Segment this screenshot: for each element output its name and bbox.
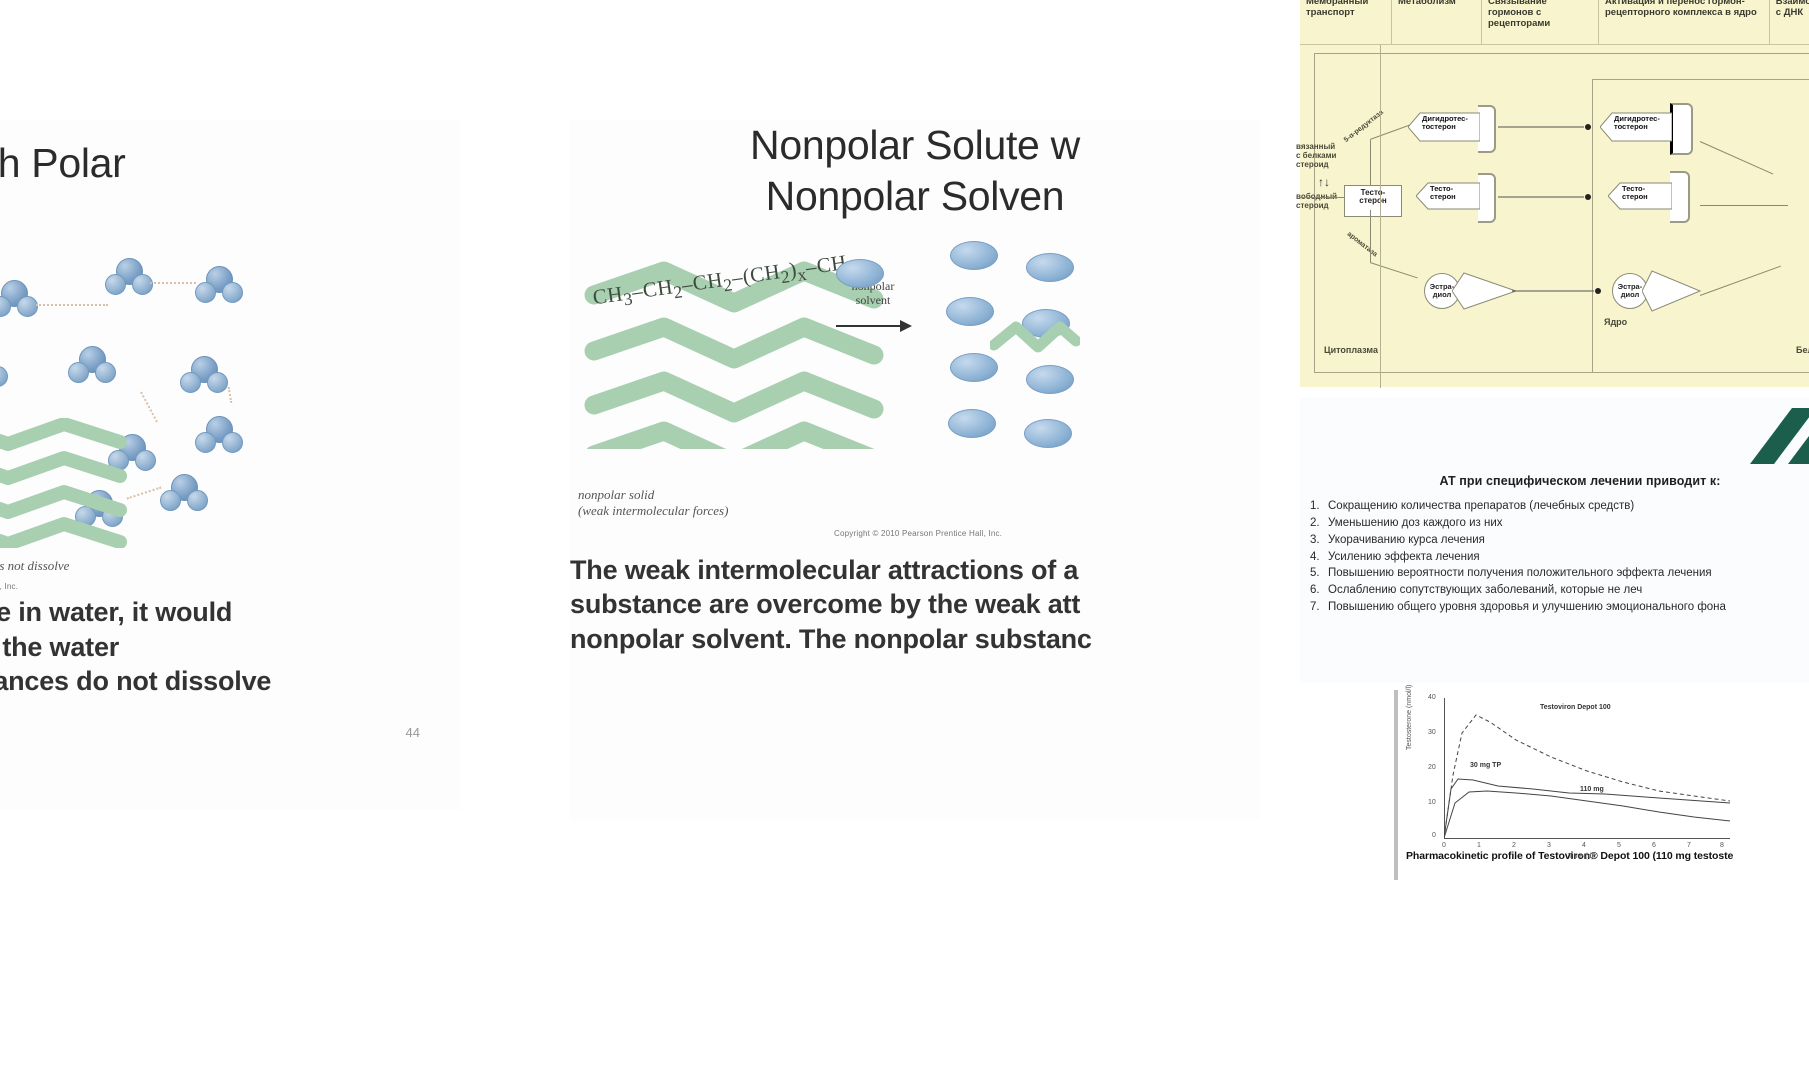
figure-caption-line2: (weak intermolecular forces) xyxy=(578,503,878,519)
right-arrow-icon xyxy=(836,319,912,333)
receptor-bracket xyxy=(1478,173,1496,223)
water-molecule xyxy=(0,280,36,320)
transfer-arrow-icon xyxy=(1512,285,1604,297)
water-molecule xyxy=(0,350,6,390)
diagram-column-header: Взаимодействие с ДНК xyxy=(1770,0,1809,44)
bound-steroid-label: вязанныйс белкамистероид xyxy=(1296,143,1336,169)
diagram-column-header: Метаболизм xyxy=(1392,0,1482,44)
solvent-molecule xyxy=(946,297,994,326)
slide-nonpolar-solute-nonpolar-solvent: Nonpolar Solute w Nonpolar Solven CH3–CH… xyxy=(570,120,1260,820)
copyright-notice: Copyright © 2010 Pearson Prentice Hall, … xyxy=(0,582,460,591)
page-title: Nonpolar Solute w Nonpolar Solven xyxy=(570,120,1260,223)
y-tick-label: 40 xyxy=(1428,694,1436,701)
region-label-protein: Белок xyxy=(1796,345,1809,355)
series-110mg xyxy=(1444,791,1730,838)
figure-caption-line1: nonpolar solid xyxy=(578,487,878,503)
x-tick-label: 3 xyxy=(1547,842,1551,849)
x-tick-label: 4 xyxy=(1582,842,1586,849)
slide-body-text: The weak intermolecular attractions of a… xyxy=(570,553,1260,657)
water-molecule xyxy=(195,416,241,456)
chart-caption: Pharmacokinetic profile of Testoviron® D… xyxy=(1406,850,1809,863)
y-tick-label: 0 xyxy=(1432,832,1436,839)
hormone-action-diagram: Мембранный транспорт Метаболизм Связыван… xyxy=(1300,0,1809,387)
x-tick-label: 0 xyxy=(1442,842,1446,849)
slide-nonpolar-solute-polar-solvent: olute with Polar olvent xyxy=(0,120,460,810)
screenshot-canvas: olute with Polar olvent xyxy=(0,0,1809,1080)
solvent-molecule xyxy=(948,409,996,438)
estradiol-receptor-triangle xyxy=(1642,269,1702,313)
transfer-arrow-icon xyxy=(1498,191,1592,203)
list-item: Уменьшению доз каждого из них xyxy=(1306,516,1809,532)
list-item: Укорачиванию курса лечения xyxy=(1306,533,1809,549)
body-line: substance are overcome by the weak att xyxy=(570,587,1260,622)
solvent-molecule xyxy=(950,241,998,270)
figure-does-not-dissolve: does not dissolve xyxy=(0,246,460,576)
page-title-line1: olute with Polar xyxy=(0,138,460,188)
diagram-column-header: Мембранный транспорт xyxy=(1300,0,1392,44)
diagram-column-header: Активация и перенос гормон-рецепторного … xyxy=(1599,0,1770,44)
x-tick-label: 1 xyxy=(1477,842,1481,849)
x-tick-label: 8 xyxy=(1720,842,1724,849)
y-tick-label: 20 xyxy=(1428,764,1436,771)
figure-caption: nonpolar solid (weak intermolecular forc… xyxy=(578,487,878,519)
footer-page-number: 44 xyxy=(406,725,420,740)
node-label-dht-2: Дигидротес-тостерон xyxy=(1614,115,1660,131)
green-swoosh-decoration xyxy=(1630,398,1809,468)
y-axis-title: Testosterone (nmol/l) xyxy=(1406,685,1413,750)
body-line: polar substances do not dissolve xyxy=(0,664,460,699)
slide-footer: Chapter 2 44 xyxy=(0,725,460,740)
list-item: Повышению вероятности получения положите… xyxy=(1306,566,1809,582)
water-molecule xyxy=(195,266,241,306)
list-item: Сокращению количества препаратов (лечебн… xyxy=(1306,499,1809,515)
diagram-body: вязанныйс белкамистероид вободныйстероид… xyxy=(1300,45,1809,388)
body-line: The weak intermolecular attractions of a xyxy=(570,553,1260,588)
solvent-molecule xyxy=(836,259,884,288)
list-item: Усилению эффекта лечения xyxy=(1306,550,1809,566)
list-item: Повышению общего уровня здоровья и улучш… xyxy=(1306,600,1809,616)
y-tick-label: 30 xyxy=(1428,729,1436,736)
diagram-column-header: Связывание гормонов с рецепторами xyxy=(1482,0,1599,44)
diagram-column-headers: Мембранный транспорт Метаболизм Связыван… xyxy=(1300,0,1809,45)
solvent-molecule xyxy=(1024,419,1072,448)
figure-caption: does not dissolve xyxy=(0,558,140,574)
activated-receptor-bracket xyxy=(1670,103,1693,155)
page-title: olute with Polar olvent xyxy=(0,120,460,238)
dissolved-chain xyxy=(990,319,1080,359)
body-line: ds between the water xyxy=(0,630,460,665)
node-label-testosterone-2: Тесто-стерон xyxy=(1622,185,1648,201)
figure-nonpolar-dissolving: CH3–CH2–CH2–(CH2)x–CH3 nonpolar solvent xyxy=(570,237,1260,537)
activated-receptor-bracket xyxy=(1670,171,1690,223)
x-tick-label: 7 xyxy=(1687,842,1691,849)
series-label-testoviron: Testoviron Depot 100 xyxy=(1540,704,1611,711)
chart-plot-area: 40 30 20 10 0 0 1 2 3 4 5 6 7 8 Time (d)… xyxy=(1444,698,1744,848)
body-line: e to dissolve in water, it would xyxy=(0,595,460,630)
estradiol-receptor-triangle xyxy=(1452,271,1518,311)
numbered-list: Сокращению количества препаратов (лечебн… xyxy=(1300,499,1809,616)
water-molecule xyxy=(160,474,206,514)
nonpolar-solid-chains xyxy=(0,418,150,548)
page-title-line2: olvent xyxy=(0,188,460,238)
water-molecule xyxy=(180,356,226,396)
node-testosterone-source: Тесто-стерон xyxy=(1344,185,1402,217)
water-molecule xyxy=(68,346,114,386)
slide-body-text: e to dissolve in water, it would ds betw… xyxy=(0,595,460,699)
page-title-line2: Nonpolar Solven xyxy=(570,171,1260,222)
node-label-testosterone-1: Тесто-стерон xyxy=(1430,185,1456,201)
equilibrium-arrows-icon: ↑↓ xyxy=(1318,175,1330,189)
node-label-dht-1: Дигидротес-тостерон xyxy=(1422,115,1468,131)
solvent-molecule xyxy=(1026,365,1074,394)
x-tick-label: 2 xyxy=(1512,842,1516,849)
free-steroid-label: вободныйстероид xyxy=(1296,193,1337,211)
body-line: nonpolar solvent. The nonpolar substanc xyxy=(570,622,1260,657)
water-molecule xyxy=(105,258,151,298)
region-label-cytoplasm: Цитоплазма xyxy=(1324,345,1378,355)
series-label-110mg: 110 mg xyxy=(1580,786,1604,793)
region-label-nucleus: Ядро xyxy=(1604,317,1627,327)
series-label-30mg-tp: 30 mg TP xyxy=(1470,762,1501,769)
copyright-notice: Copyright © 2010 Pearson Prentice Hall, … xyxy=(834,529,1002,538)
transfer-arrow-icon xyxy=(1498,121,1592,133)
solvent-molecule xyxy=(1026,253,1074,282)
receptor-bracket xyxy=(1478,105,1496,153)
list-item: Ослаблению сопутствующих заболеваний, ко… xyxy=(1306,583,1809,599)
at-specific-treatment-list: АТ при специфическом лечении приводит к:… xyxy=(1300,398,1809,683)
series-testoviron-depot-100 xyxy=(1444,715,1730,838)
pharmacokinetic-chart: 40 30 20 10 0 0 1 2 3 4 5 6 7 8 Time (d)… xyxy=(1400,690,1809,910)
x-axis-title: Time (d) xyxy=(1568,853,1594,860)
chart-curves xyxy=(1444,698,1734,840)
x-tick-label: 5 xyxy=(1617,842,1621,849)
y-tick-label: 10 xyxy=(1428,799,1436,806)
x-tick-label: 6 xyxy=(1652,842,1656,849)
page-title-line1: Nonpolar Solute w xyxy=(570,120,1260,171)
slide-edge-bar xyxy=(1394,690,1398,880)
